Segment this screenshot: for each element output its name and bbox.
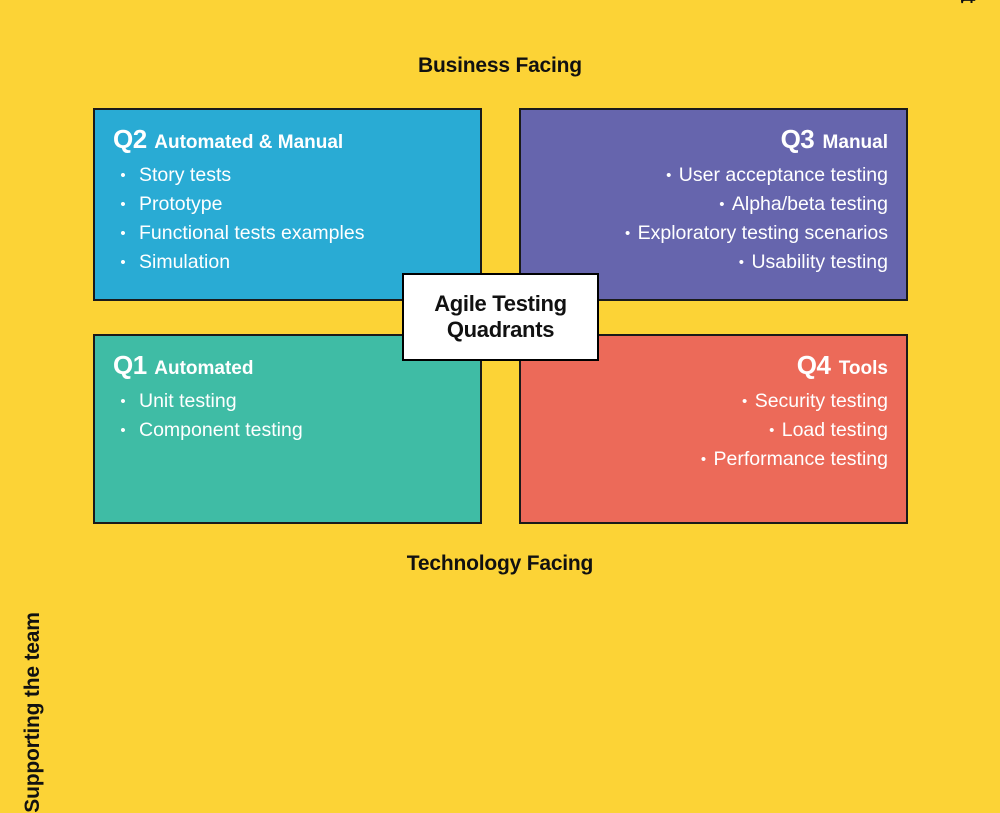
list-item: •Prototype (113, 190, 462, 219)
bullet-icon: • (714, 194, 730, 216)
bullet-icon: • (123, 420, 139, 442)
list-item: •Performance testing (539, 445, 888, 474)
list-item-label: Performance testing (713, 448, 888, 470)
quadrant-q3-id: Q3 (781, 124, 815, 154)
quadrant-q4[interactable]: Q4 Tools •Security testing •Load testing… (519, 334, 908, 524)
list-item-label: Component testing (139, 419, 303, 441)
list-item: •User acceptance testing (539, 161, 888, 190)
center-title-line1: Agile Testing (434, 291, 567, 316)
quadrant-q1-list: •Unit testing •Component testing (113, 387, 462, 445)
list-item-label: Security testing (755, 390, 888, 412)
quadrant-q2-kind: Automated & Manual (150, 132, 344, 153)
center-title-line2: Quadrants (447, 317, 554, 342)
quadrant-q2-id: Q2 (113, 124, 147, 154)
quadrant-q3-heading: Q3 Manual (539, 124, 888, 155)
bullet-icon: • (620, 223, 636, 245)
bullet-icon: • (737, 391, 753, 413)
quadrant-q3-list: •User acceptance testing •Alpha/beta tes… (539, 161, 888, 277)
list-item-label: User acceptance testing (679, 164, 888, 186)
list-item: •Alpha/beta testing (539, 190, 888, 219)
quadrant-q1-kind: Automated (150, 358, 254, 379)
bullet-icon: • (123, 391, 139, 413)
quadrant-q2-list: •Story tests •Prototype •Functional test… (113, 161, 462, 277)
list-item: •Functional tests examples (113, 219, 462, 248)
quadrant-q4-list: •Security testing •Load testing •Perform… (539, 387, 888, 474)
bullet-icon: • (123, 223, 139, 245)
axis-label-right-text: Critique Product (651, 0, 1000, 3)
list-item: •Unit testing (113, 387, 462, 416)
axis-label-left-text: Supporting the team (0, 612, 349, 812)
quadrant-q4-kind: Tools (833, 358, 888, 379)
bullet-icon: • (123, 165, 139, 187)
list-item: •Security testing (539, 387, 888, 416)
quadrant-q3-kind: Manual (817, 132, 888, 153)
list-item: •Story tests (113, 161, 462, 190)
axis-label-left: Supporting the team (0, 0, 349, 633)
list-item-label: Prototype (139, 193, 222, 215)
center-title-text: Agile Testing Quadrants (434, 291, 567, 343)
list-item-label: Exploratory testing scenarios (638, 222, 888, 244)
axis-label-right: Critique Product (651, 0, 1000, 633)
list-item-label: Story tests (139, 164, 231, 186)
list-item-label: Load testing (782, 419, 888, 441)
quadrant-q1[interactable]: Q1 Automated •Unit testing •Component te… (93, 334, 482, 524)
bullet-icon: • (764, 420, 780, 442)
bullet-icon: • (123, 194, 139, 216)
list-item-label: Alpha/beta testing (732, 193, 888, 215)
bullet-icon: • (123, 252, 139, 274)
list-item: •Component testing (113, 416, 462, 445)
center-title-plate: Agile Testing Quadrants (402, 273, 599, 361)
list-item: •Exploratory testing scenarios (539, 219, 888, 248)
bullet-icon: • (661, 165, 677, 187)
list-item: •Load testing (539, 416, 888, 445)
list-item-label: Functional tests examples (139, 222, 364, 244)
quadrant-q2-heading: Q2 Automated & Manual (113, 124, 462, 155)
list-item-label: Simulation (139, 251, 230, 273)
list-item-label: Unit testing (139, 390, 237, 412)
bullet-icon: • (695, 449, 711, 471)
quadrant-q1-id: Q1 (113, 350, 147, 380)
list-item-label: Usability testing (751, 251, 888, 273)
quadrant-q4-id: Q4 (797, 350, 831, 380)
bullet-icon: • (733, 252, 749, 274)
agile-testing-quadrants-diagram: Business Facing Technology Facing Suppor… (0, 0, 1000, 633)
